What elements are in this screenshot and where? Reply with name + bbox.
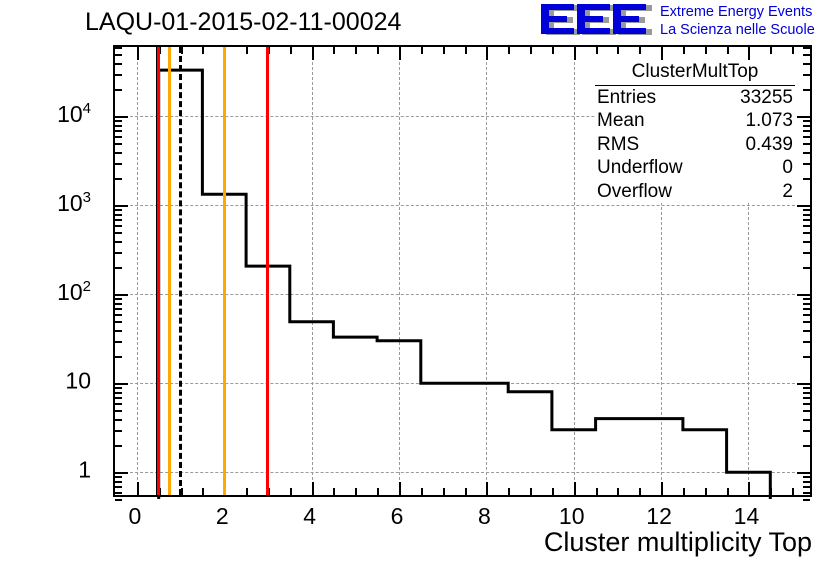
- eee-logo-line1: Extreme Energy Events: [660, 3, 815, 21]
- x-axis-label: 0: [128, 503, 141, 530]
- eee-logo-text: Extreme Energy Events La Scienza nelle S…: [660, 3, 815, 39]
- stats-box-rows: Entries33255Mean1.073RMS0.439Underflow0O…: [595, 86, 795, 204]
- stats-row-label: Underflow: [597, 156, 683, 180]
- stats-row-label: RMS: [597, 133, 639, 157]
- orange-marker-low: [168, 47, 171, 495]
- y-axis-label: 1: [0, 457, 91, 484]
- y-axis-tick: [803, 499, 810, 501]
- page-title: LAQU-01-2015-02-11-00024: [85, 8, 401, 37]
- eee-logo: Extreme Energy Events La Scienza nelle S…: [538, 2, 830, 42]
- x-axis-label: 6: [391, 503, 404, 530]
- stats-box: ClusterMultTop Entries33255Mean1.073RMS0…: [595, 60, 795, 203]
- red-marker-high: [266, 47, 269, 495]
- x-axis-label: 14: [734, 503, 760, 530]
- stats-row-value: 0: [782, 156, 793, 180]
- stats-row: Overflow2: [595, 180, 795, 204]
- stats-row-label: Mean: [597, 109, 645, 133]
- y-axis-label: 10: [0, 368, 91, 395]
- x-axis-label: 4: [303, 503, 316, 530]
- x-axis-label: 8: [478, 503, 491, 530]
- stats-row-value: 2: [782, 180, 793, 204]
- stats-row: RMS0.439: [595, 133, 795, 157]
- stats-row: Mean1.073: [595, 109, 795, 133]
- x-axis-title: Cluster multiplicity Top: [544, 527, 812, 558]
- stats-row-label: Entries: [597, 86, 656, 110]
- x-axis-label: 10: [559, 503, 585, 530]
- x-axis-label: 12: [646, 503, 672, 530]
- black-dashed-marker: [179, 47, 182, 495]
- orange-marker-high: [223, 47, 226, 495]
- stats-row-value: 33255: [740, 86, 793, 110]
- red-marker-low: [157, 47, 160, 495]
- eee-logo-line2: La Scienza nelle Scuole: [660, 21, 815, 39]
- stats-row-value: 0.439: [745, 133, 793, 157]
- y-axis-tick: [115, 499, 122, 501]
- stats-row-value: 1.073: [745, 109, 793, 133]
- y-axis-label: 102: [0, 278, 91, 306]
- stats-box-title: ClusterMultTop: [595, 60, 795, 86]
- stats-row: Underflow0: [595, 156, 795, 180]
- y-axis-label: 103: [0, 189, 91, 217]
- x-axis-label: 2: [216, 503, 229, 530]
- y-axis-label: 104: [0, 100, 91, 128]
- eee-logo-mark: [538, 2, 658, 40]
- stats-row: Entries33255: [595, 86, 795, 110]
- stats-row-label: Overflow: [597, 180, 672, 204]
